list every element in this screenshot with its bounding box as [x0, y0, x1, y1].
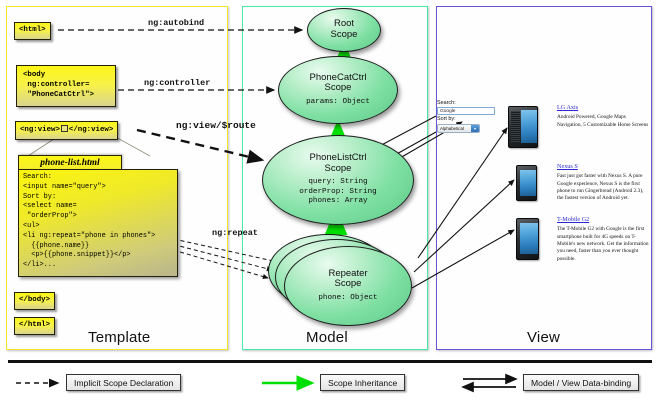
legend-label-databinding: Model / View Data-binding	[523, 374, 639, 391]
sort-select[interactable]: Alphabetical ▾	[437, 124, 480, 133]
legend-label-implicit: Implicit Scope Declaration	[66, 374, 181, 391]
phone-name-link[interactable]: T-Mobile G2	[557, 216, 651, 223]
scope-repeater: RepeaterScope phone: Object	[284, 246, 412, 326]
phone-entry: T-Mobile G2 The T-Mobile G2 with Google …	[557, 216, 651, 263]
legend-divider	[8, 360, 652, 363]
label-ng-repeat: ng:repeat	[212, 228, 258, 238]
scope-repeater-stack: RepeaterScope phone: Object	[268, 232, 418, 328]
view-search-form: Search: Google Sort by: Alphabetical ▾	[437, 100, 499, 133]
phone-screen-icon	[520, 223, 538, 254]
phone-list-filename: phone-list.html	[18, 155, 122, 170]
tag-body-open: <body ng:controller= "PhoneCatCtrl">	[16, 65, 116, 107]
scope-phonecatctrl-title: PhoneCatCtrlScope	[309, 73, 366, 94]
label-ng-autobind: ng:autobind	[148, 18, 204, 28]
search-input[interactable]: Google	[437, 107, 495, 115]
tag-html-open: <html>	[14, 22, 51, 40]
label-ng-controller: ng:controller	[144, 78, 210, 88]
sort-label: Sort by:	[437, 116, 499, 123]
scope-phonecatctrl: PhoneCatCtrlScope params: Object	[278, 56, 398, 124]
label-ng-view-route: ng:view/$route	[176, 120, 256, 131]
legend: Implicit Scope Declaration Scope Inherit…	[8, 372, 652, 398]
legend-label-inheritance: Scope Inheritance	[320, 374, 405, 391]
phone-thumbnail-nexus-s	[516, 165, 537, 201]
ng-view-placeholder-icon	[61, 125, 68, 132]
chevron-down-icon: ▾	[471, 125, 479, 132]
phone-list-html-note: phone-list.html Search: <input name="que…	[18, 155, 178, 277]
phone-snippet: Android Powered, Google Maps Navigation,…	[557, 114, 651, 129]
scope-phonecatctrl-props: params: Object	[306, 98, 370, 107]
scope-phonelistctrl-props: query: String orderProp: String phones: …	[299, 178, 376, 206]
phone-list-code: Search: <input name="query"> Sort by: <s…	[18, 169, 178, 277]
phone-name-link[interactable]: LG Axis	[557, 104, 651, 111]
phone-thumbnail-t-mobile-g2	[516, 218, 539, 260]
column-label-view: View	[527, 329, 560, 346]
scope-phonelistctrl: PhoneListCtrlScope query: String orderPr…	[262, 135, 414, 225]
tag-html-close: </html>	[14, 317, 55, 335]
scope-root-title: RootScope	[331, 19, 358, 40]
column-label-model: Model	[306, 329, 348, 346]
phone-screen-icon	[521, 110, 537, 143]
phone-snippet: Fast just got faster with Nexus S. A pur…	[557, 173, 651, 202]
tag-ng-view: <ng:view></ng:view>	[15, 121, 118, 140]
phone-keyboard-icon	[511, 111, 520, 142]
phone-entry: Nexus S Fast just got faster with Nexus …	[557, 163, 651, 203]
scope-phonelistctrl-title: PhoneListCtrlScope	[309, 153, 366, 174]
scope-repeater-props: phone: Object	[318, 294, 377, 303]
phone-name-link[interactable]: Nexus S	[557, 163, 651, 170]
scope-repeater-title: RepeaterScope	[328, 269, 367, 290]
sort-select-value: Alphabetical	[440, 126, 464, 131]
tag-ng-view-close: </ng:view>	[69, 126, 113, 134]
column-label-template: Template	[88, 329, 150, 346]
phone-thumbnail-lg-axis	[508, 106, 538, 148]
diagram-canvas: ng:autobind ng:controller ng:view/$route…	[0, 0, 660, 405]
phone-snippet: The T-Mobile G2 with Google is the first…	[557, 226, 651, 262]
phone-screen-icon	[520, 170, 536, 196]
search-label: Search:	[437, 100, 499, 107]
tag-body-close: </body>	[14, 292, 55, 310]
tag-ng-view-open: <ng:view>	[20, 126, 60, 134]
scope-root: RootScope	[307, 8, 381, 52]
phone-entry: LG Axis Android Powered, Google Maps Nav…	[557, 104, 651, 129]
